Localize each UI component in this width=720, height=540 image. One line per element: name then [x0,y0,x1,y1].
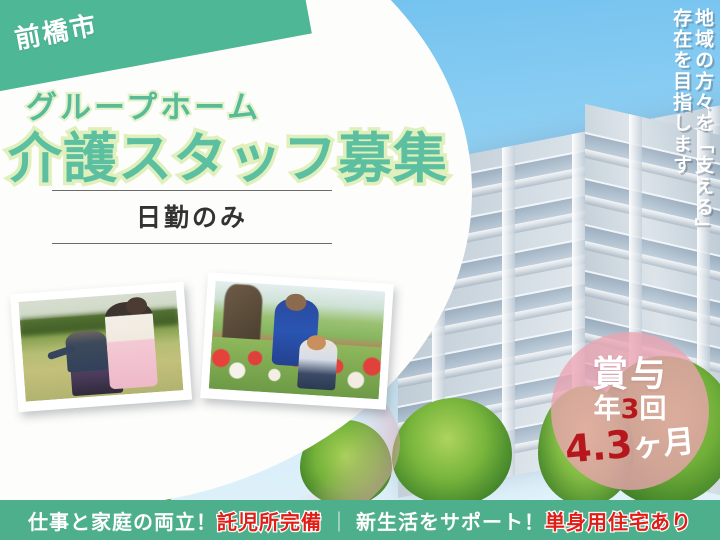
recruitment-poster: 前橋市 グループホーム 介護スタッフ募集 日勤のみ 地域の方々を「支える」 存在… [0,0,720,540]
bonus-badge-frequency: 年3回 [594,396,667,424]
bonus-badge: 賞与 年3回 4.3ヶ月 [551,332,709,490]
bonus-frequency-suffix: 回 [639,394,666,425]
bonus-months-suffix: ヶ月 [631,423,696,464]
banner-separator: ｜ [322,506,356,535]
subtitle-rule-bottom [52,243,332,244]
subtitle-block: 日勤のみ [52,190,332,244]
subtitle-text: 日勤のみ [52,191,332,243]
banner-highlight-housing: 単身用住宅あり [545,506,692,535]
banner-text-new-life: 新生活をサポート！ [356,506,545,535]
vertical-tagline-column-1: 地域の方々を「支える」 [692,8,712,239]
bonus-frequency-prefix: 年 [594,394,621,425]
banner-highlight-daycare: 託児所完備 [217,506,322,535]
bonus-months-number: 4.3 [564,422,635,472]
banner-text-work-life: 仕事と家庭の両立！ [28,506,217,535]
bottom-benefits-banner: 仕事と家庭の両立！ 託児所完備 ｜ 新生活をサポート！ 単身用住宅あり [0,500,720,540]
vertical-tagline-column-2: 存在を目指します [670,8,690,176]
bonus-frequency-number: 3 [621,394,640,425]
photo-caregiver-wheelchair-park [10,282,192,412]
vertical-tagline: 地域の方々を「支える」 存在を目指します [670,8,712,239]
caregiver-blue-jacket-head [285,293,306,312]
photo-caregiver-wheelchair-tulips [200,272,394,409]
bonus-badge-title: 賞与 [592,357,668,393]
bonus-badge-months: 4.3ヶ月 [564,419,696,470]
page-title: 介護スタッフ募集 [8,114,448,193]
